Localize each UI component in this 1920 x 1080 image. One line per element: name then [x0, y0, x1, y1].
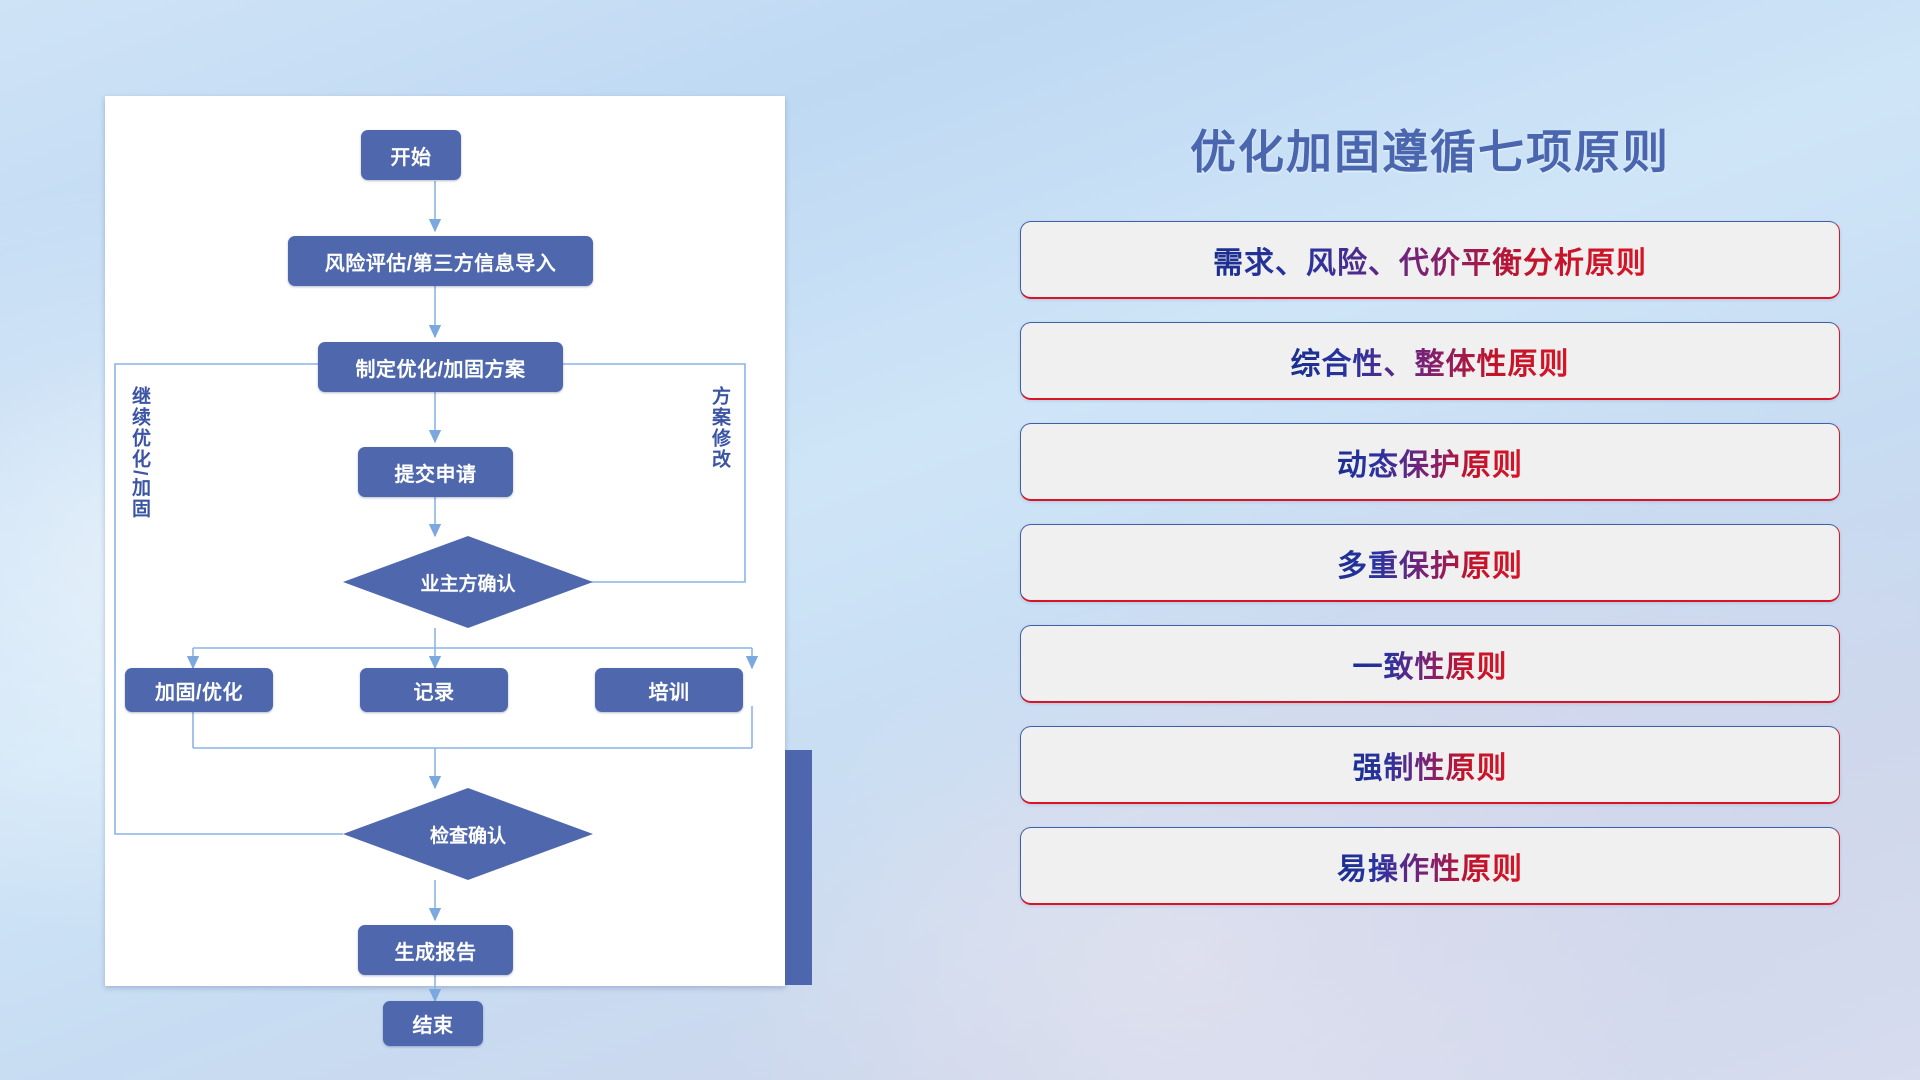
flow-node-label: 结束: [413, 1009, 454, 1038]
principle-card-7[interactable]: 易操作性原则: [1020, 827, 1840, 905]
flow-node-submit-application: 提交申请: [358, 447, 513, 497]
flowchart-card: 开始 风险评估/第三方信息导入 制定优化/加固方案 提交申请 业主方确认 加固/…: [105, 96, 785, 986]
flow-node-reinforce-optimize: 加固/优化: [125, 668, 273, 712]
principle-card-5[interactable]: 一致性原则: [1020, 625, 1840, 703]
flow-node-label: 提交申请: [395, 458, 477, 487]
panel-title: 优化加固遵循七项原则: [1020, 116, 1840, 182]
principle-card-2[interactable]: 综合性、整体性原则: [1020, 322, 1840, 400]
principle-label: 综合性、整体性原则: [1291, 339, 1570, 383]
principles-panel: 优化加固遵循七项原则 需求、风险、代价平衡分析原则 综合性、整体性原则 动态保护…: [1020, 96, 1840, 1006]
flow-node-start: 开始: [361, 130, 461, 180]
principle-card-1[interactable]: 需求、风险、代价平衡分析原则: [1020, 221, 1840, 299]
flow-node-label: 检查确认: [430, 821, 506, 848]
flow-node-risk-assessment: 风险评估/第三方信息导入: [288, 236, 593, 286]
flow-node-record: 记录: [360, 668, 508, 712]
principle-card-4[interactable]: 多重保护原则: [1020, 524, 1840, 602]
principle-label: 需求、风险、代价平衡分析原则: [1213, 238, 1647, 282]
principle-label: 多重保护原则: [1337, 541, 1523, 585]
principle-label: 强制性原则: [1353, 743, 1508, 787]
flow-node-generate-report: 生成报告: [358, 925, 513, 975]
flow-node-label: 培训: [649, 676, 690, 705]
flowchart-canvas: 开始 风险评估/第三方信息导入 制定优化/加固方案 提交申请 业主方确认 加固/…: [105, 96, 785, 986]
flow-node-label: 加固/优化: [155, 676, 243, 705]
flow-node-label: 业主方确认: [420, 569, 515, 596]
flow-node-label: 记录: [414, 676, 455, 705]
principles-list: 需求、风险、代价平衡分析原则 综合性、整体性原则 动态保护原则 多重保护原则 一…: [1020, 221, 1840, 928]
flow-node-make-plan: 制定优化/加固方案: [318, 342, 563, 392]
flow-node-label: 开始: [391, 141, 432, 170]
principle-label: 动态保护原则: [1337, 440, 1523, 484]
flow-edge-label-continue-optimize: 继续优化/加固: [129, 386, 149, 519]
flow-node-training: 培训: [595, 668, 743, 712]
flow-node-label: 制定优化/加固方案: [355, 353, 525, 382]
principle-card-6[interactable]: 强制性原则: [1020, 726, 1840, 804]
principle-label: 易操作性原则: [1337, 844, 1523, 888]
flow-edge-label-plan-revision: 方案修改: [709, 386, 729, 470]
principle-card-3[interactable]: 动态保护原则: [1020, 423, 1840, 501]
flow-node-end: 结束: [383, 1001, 483, 1046]
principle-label: 一致性原则: [1353, 642, 1508, 686]
flow-node-label: 生成报告: [395, 936, 477, 965]
flow-node-label: 风险评估/第三方信息导入: [325, 247, 557, 276]
